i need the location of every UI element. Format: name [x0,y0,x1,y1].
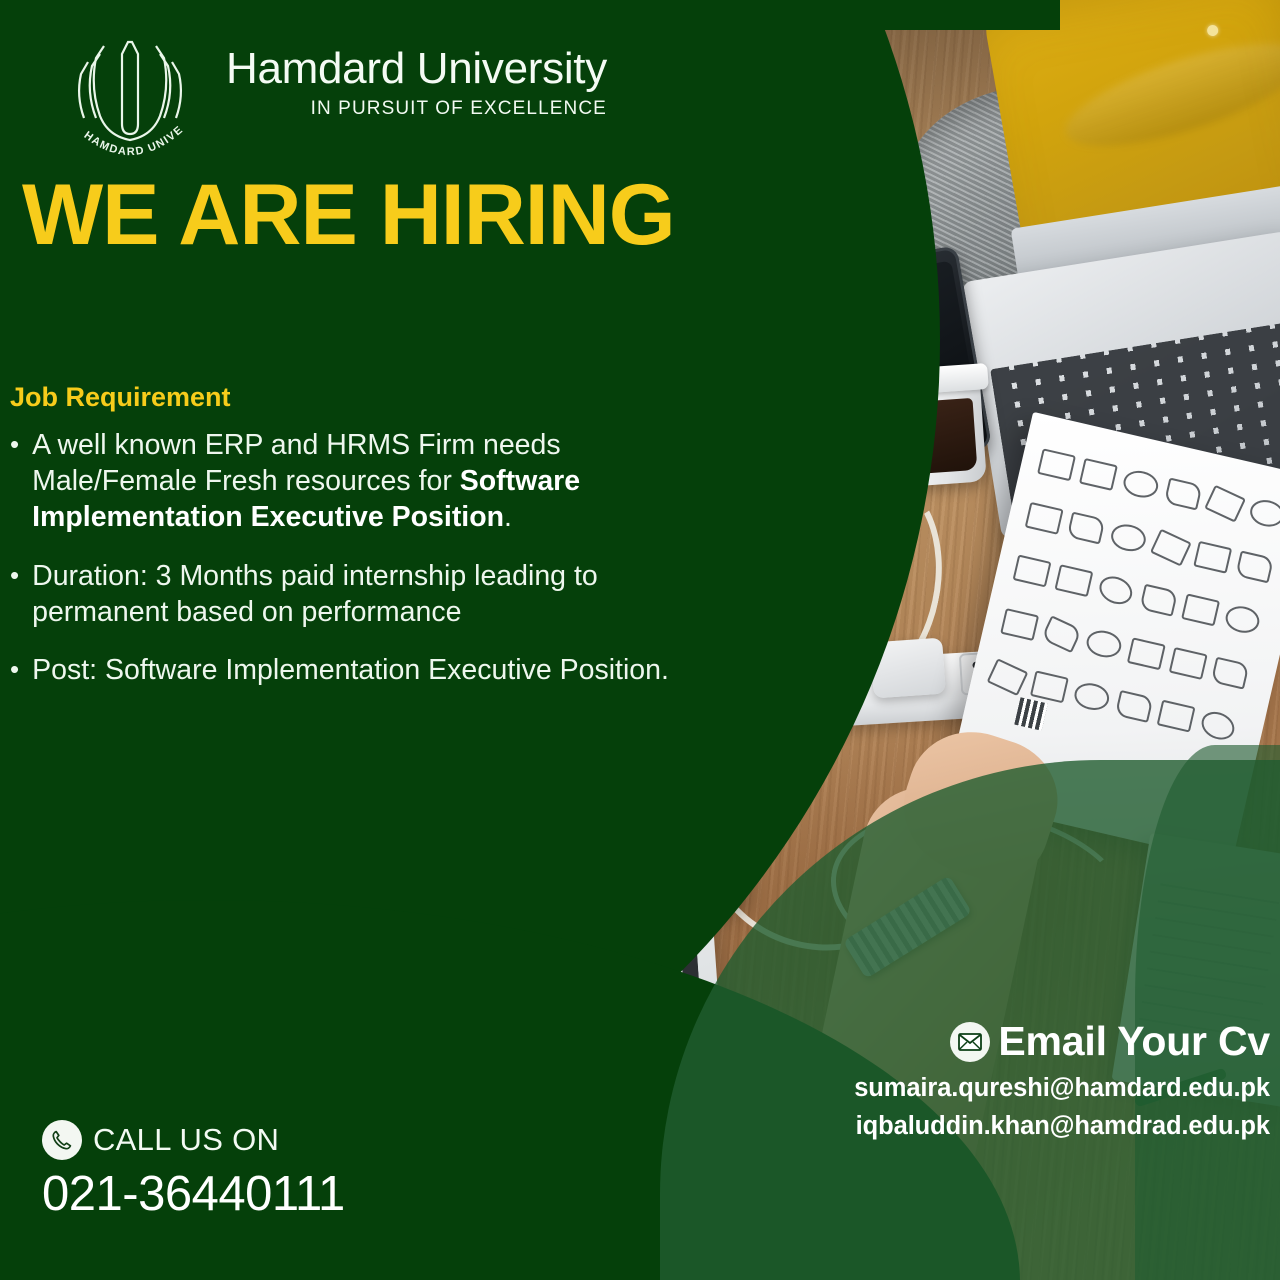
job-requirements-section: Job Requirement • A well known ERP and H… [10,382,700,710]
requirement-text-2: Post: Software Implementation Executive … [32,652,669,688]
university-name: Hamdard University [226,46,607,92]
hiring-poster: HAMDARD UNIVERSITY Hamdard University IN… [0,0,1280,1280]
bullet-icon: • [10,558,19,630]
requirements-heading: Job Requirement [10,382,700,413]
call-header: CALL US ON [42,1120,345,1160]
email-title: Email Your Cv [998,1018,1270,1065]
envelope-icon [950,1022,990,1062]
page-title: WE ARE HIRING [22,172,675,258]
email-address-2[interactable]: iqbaluddin.khan@hamdrad.edu.pk [780,1112,1270,1141]
brand-lockup: HAMDARD UNIVERSITY Hamdard University IN… [60,28,607,168]
requirement-text-0: A well known ERP and HRMS Firm needs Mal… [32,427,700,536]
phone-contact-block: CALL US ON 021-36440111 [42,1120,345,1222]
hamdard-university-crest-icon: HAMDARD UNIVERSITY [60,28,200,168]
list-item: • Post: Software Implementation Executiv… [10,652,700,688]
list-item: • A well known ERP and HRMS Firm needs M… [10,427,700,536]
phone-icon [42,1120,82,1160]
requirement-tail-0: . [504,501,512,533]
email-header: Email Your Cv [780,1018,1270,1065]
phone-number[interactable]: 021-36440111 [42,1166,345,1222]
call-label: CALL US ON [93,1122,279,1158]
brand-text: Hamdard University IN PURSUIT OF EXCELLE… [226,28,607,120]
email-address-1[interactable]: sumaira.qureshi@hamdard.edu.pk [780,1074,1270,1103]
university-tagline: IN PURSUIT OF EXCELLENCE [226,98,607,120]
bullet-icon: • [10,652,19,688]
email-contact-block: Email Your Cv sumaira.qureshi@hamdard.ed… [780,1018,1270,1141]
bullet-icon: • [10,427,19,536]
poster-content: HAMDARD UNIVERSITY Hamdard University IN… [0,0,1280,1280]
list-item: • Duration: 3 Months paid internship lea… [10,558,700,630]
requirement-text-1: Duration: 3 Months paid internship leadi… [32,558,700,630]
